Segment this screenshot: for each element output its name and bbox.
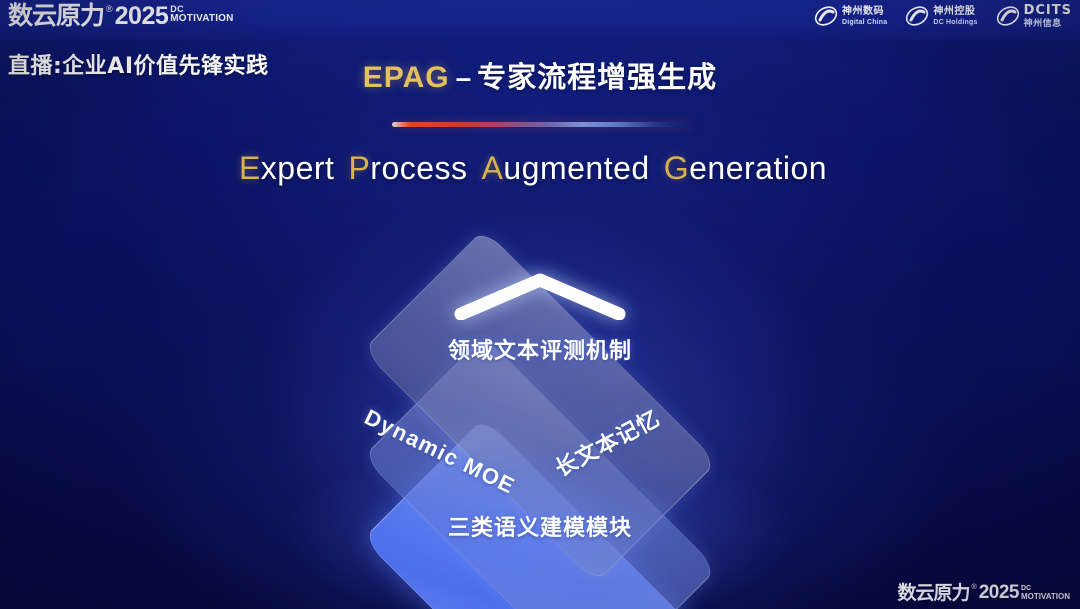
subtitle-initial: G bbox=[664, 150, 689, 186]
logo-label-cn: DCITS bbox=[1024, 4, 1072, 17]
logo-label-cn: 神州数码 bbox=[842, 7, 887, 17]
subtitle-rest: ugmented bbox=[503, 150, 649, 186]
title-chinese: 专家流程增强生成 bbox=[477, 60, 717, 94]
title-divider bbox=[392, 122, 690, 127]
brand-motivation-label: MOTIVATION bbox=[170, 14, 233, 23]
subtitle-word-process: Process bbox=[348, 150, 467, 186]
watermark-registered-mark: ® bbox=[972, 583, 977, 592]
brand-name-cn: 数云原力 bbox=[8, 3, 104, 29]
chevron-up-icon bbox=[453, 272, 627, 320]
footer-watermark: 数云原力 ® 2025 DC MOTIVATION bbox=[898, 583, 1071, 603]
diagram-label-top: 领域文本评测机制 bbox=[0, 333, 1080, 365]
swoosh-logo-icon bbox=[905, 4, 929, 28]
brand-dc-motivation: DC MOTIVATION bbox=[170, 5, 233, 23]
subtitle-rest: eneration bbox=[689, 150, 827, 186]
logo-dc-holdings: 神州控股 DC Holdings bbox=[905, 4, 977, 28]
slide-title: EPAG–专家流程增强生成 bbox=[0, 54, 1080, 96]
logo-digital-china: 神州数码 Digital China bbox=[814, 4, 887, 28]
subtitle-rest: xpert bbox=[261, 150, 335, 186]
swoosh-logo-icon bbox=[996, 4, 1020, 28]
subtitle-initial: P bbox=[348, 150, 370, 186]
subtitle-initial: A bbox=[482, 150, 504, 186]
partner-logo-group: 神州数码 Digital China 神州控股 DC Holdings DCIT… bbox=[814, 4, 1072, 28]
swoosh-logo-icon bbox=[814, 4, 838, 28]
brand-year: 2025 bbox=[115, 3, 169, 29]
logo-label-cn: 神州控股 bbox=[933, 7, 977, 17]
brand-registered-mark: ® bbox=[106, 3, 113, 15]
slide-subtitle: ExpertProcessAugmentedGeneration bbox=[0, 150, 1080, 187]
logo-label-en: Digital China bbox=[842, 19, 887, 26]
watermark-dc-motivation: DC MOTIVATION bbox=[1021, 585, 1070, 601]
subtitle-word-generation: Generation bbox=[664, 150, 827, 186]
diagram-label-bottom: 三类语义建模模块 bbox=[0, 510, 1080, 542]
logo-label-en: DC Holdings bbox=[933, 19, 977, 26]
brand-lockup: 数云原力 ® 2025 DC MOTIVATION bbox=[8, 3, 234, 29]
title-dash: – bbox=[456, 62, 472, 93]
subtitle-initial: E bbox=[239, 150, 261, 186]
subtitle-word-expert: Expert bbox=[239, 150, 334, 186]
watermark-motivation-label: MOTIVATION bbox=[1021, 593, 1070, 601]
slide-canvas: 数云原力 ® 2025 DC MOTIVATION 直播:企业AI价值先锋实践 … bbox=[0, 0, 1080, 609]
subtitle-rest: rocess bbox=[370, 150, 467, 186]
watermark-name-cn: 数云原力 bbox=[898, 583, 970, 603]
subtitle-word-augmented: Augmented bbox=[482, 150, 650, 186]
logo-label-en: 神州信息 bbox=[1024, 19, 1072, 28]
title-acronym: EPAG bbox=[363, 61, 450, 94]
logo-dcits: DCITS 神州信息 bbox=[996, 4, 1072, 28]
watermark-year: 2025 bbox=[979, 583, 1019, 603]
